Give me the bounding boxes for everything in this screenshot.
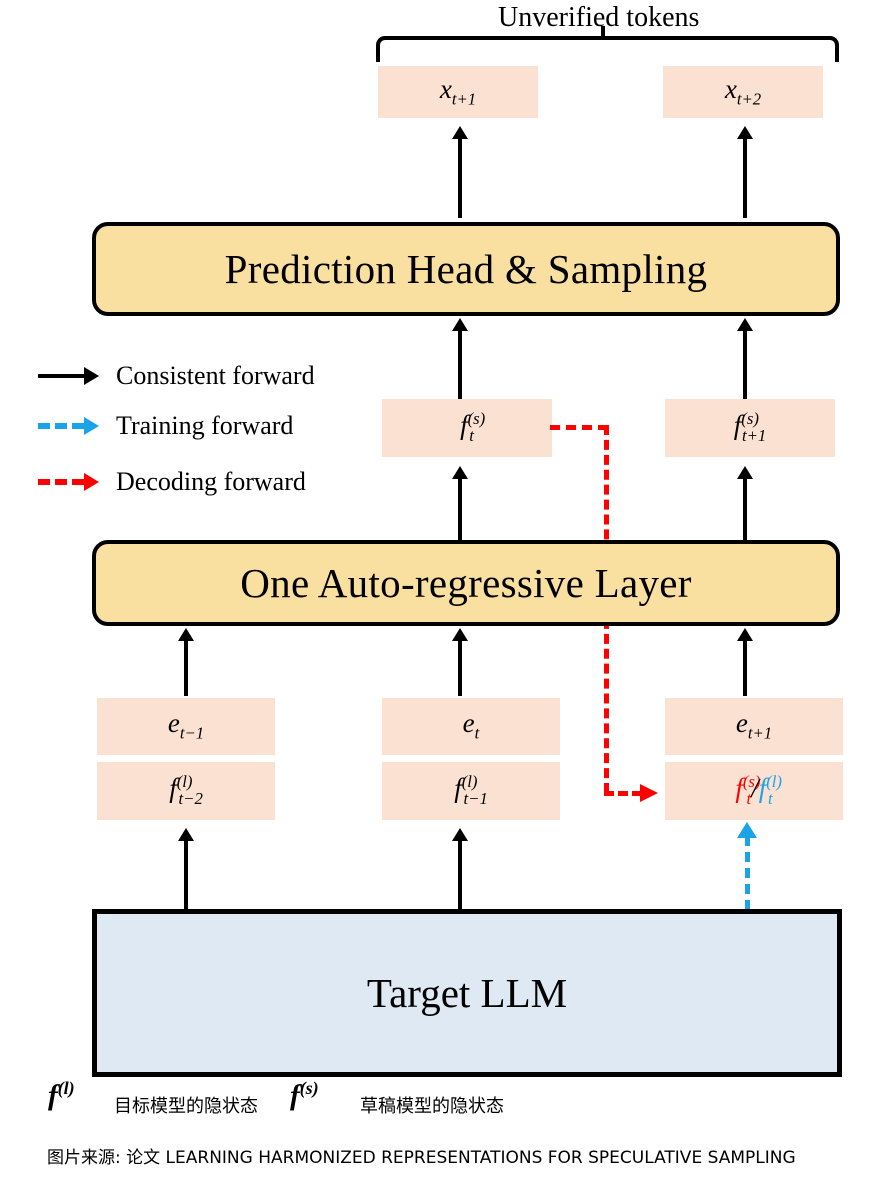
legend-training-forward: Training forward xyxy=(38,398,358,454)
legend-consistent-forward: Consistent forward xyxy=(38,354,358,398)
hidden-f-l-t-minus-2-label: f(l)t−2 xyxy=(169,774,203,807)
source-caption: 图片来源: 论文 LEARNING HARMONIZED REPRESENTAT… xyxy=(47,1143,796,1168)
legend-decoding-arrowhead xyxy=(84,473,99,491)
arrow-llm-to-f-l-t-minus-2 xyxy=(176,828,196,910)
decoding-path-h-top xyxy=(550,425,608,430)
footnote-draft-hidden-text: 草稿模型的隐状态 xyxy=(360,1092,504,1118)
arrow-e-t-minus-1-to-layer xyxy=(176,628,196,696)
legend-training-line xyxy=(38,423,84,429)
arrow-fs-t-to-head xyxy=(450,318,470,400)
legend: Consistent forward Training forward Deco… xyxy=(38,354,358,510)
embedding-e-t-plus-1[interactable]: et+1 xyxy=(665,698,843,755)
arrow-layer-to-fs-t1 xyxy=(735,466,755,540)
embedding-e-t-minus-1[interactable]: et−1 xyxy=(97,698,275,755)
feature-f-s-t[interactable]: f(s)t xyxy=(382,399,552,457)
legend-training-arrowhead xyxy=(84,417,99,435)
training-path-v xyxy=(745,836,750,910)
feature-f-s-t-plus-1-label: f(s)t+1 xyxy=(734,411,767,444)
embedding-e-t[interactable]: et xyxy=(382,698,560,755)
legend-decoding-forward: Decoding forward xyxy=(38,454,358,510)
hidden-f-l-t-minus-1[interactable]: f(l)t−1 xyxy=(382,762,560,820)
training-arrowhead xyxy=(737,822,757,838)
hidden-f-s-or-f-l-t-label: f(s)t/f(l)t xyxy=(735,774,772,807)
module-target-llm-label: Target LLM xyxy=(367,969,567,1017)
embedding-e-t-plus-1-label: et+1 xyxy=(736,710,772,742)
embedding-e-t-label: et xyxy=(463,710,480,742)
hidden-f-l-t-minus-1-label: f(l)t−1 xyxy=(454,774,488,807)
decoding-path-h-bottom xyxy=(604,791,642,796)
hidden-f-s-or-f-l-t[interactable]: f(s)t/f(l)t xyxy=(665,762,843,820)
embedding-e-t-minus-1-label: et−1 xyxy=(168,710,204,742)
arrow-e-t-plus-1-to-layer xyxy=(735,628,755,696)
token-x-t-plus-2[interactable]: xt+2 xyxy=(663,66,823,118)
legend-consistent-arrowhead xyxy=(84,367,99,385)
arrow-head-to-token-2 xyxy=(735,126,755,218)
legend-training-label: Training forward xyxy=(116,411,293,441)
legend-decoding-line xyxy=(38,479,84,485)
token-x-t-plus-1-label: xt+1 xyxy=(440,76,476,108)
arrow-e-t-to-layer xyxy=(450,628,470,696)
hidden-f-l-t-minus-2[interactable]: f(l)t−2 xyxy=(97,762,275,820)
legend-consistent-line xyxy=(38,374,86,378)
diagram-canvas: Unverified tokens xt+1 xt+2 Prediction H… xyxy=(0,0,875,1191)
module-prediction-head-label: Prediction Head & Sampling xyxy=(225,245,708,293)
module-auto-regressive-layer[interactable]: One Auto-regressive Layer xyxy=(92,540,840,626)
token-x-t-plus-2-label: xt+2 xyxy=(725,76,761,108)
arrow-llm-to-f-l-t-minus-1 xyxy=(450,828,470,910)
module-prediction-head[interactable]: Prediction Head & Sampling xyxy=(92,222,840,316)
legend-decoding-label: Decoding forward xyxy=(116,467,306,497)
arrow-layer-to-fs-t xyxy=(450,466,470,540)
legend-consistent-label: Consistent forward xyxy=(116,361,315,391)
footnote-target-hidden-text: 目标模型的隐状态 xyxy=(114,1092,258,1118)
bracket-tick xyxy=(601,26,605,39)
unverified-tokens-bracket xyxy=(376,36,839,62)
module-target-llm[interactable]: Target LLM xyxy=(92,909,842,1077)
decoding-arrowhead xyxy=(640,784,658,802)
footnote-draft-hidden-symbol: f(s) xyxy=(290,1078,319,1113)
token-x-t-plus-1[interactable]: xt+1 xyxy=(378,66,538,118)
feature-f-s-t-plus-1[interactable]: f(s)t+1 xyxy=(665,399,835,457)
feature-f-s-t-label: f(s)t xyxy=(460,411,474,444)
unverified-tokens-label: Unverified tokens xyxy=(498,2,699,34)
footnote-target-hidden-symbol: f(l) xyxy=(48,1078,75,1113)
arrow-head-to-token-1 xyxy=(450,126,470,218)
module-auto-regressive-layer-label: One Auto-regressive Layer xyxy=(240,559,692,607)
arrow-fs-t1-to-head xyxy=(735,318,755,400)
